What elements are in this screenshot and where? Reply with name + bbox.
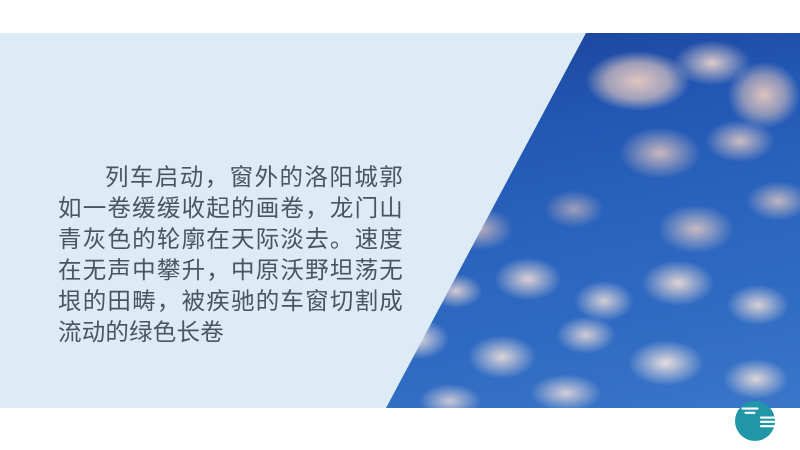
brand-logo xyxy=(734,400,776,442)
teal-circle-lines-icon xyxy=(735,401,775,441)
body-paragraph: 列车启动，窗外的洛阳城郭如一卷缓缓收起的画卷，龙门山青灰色的轮廓在天际淡去。速度… xyxy=(58,162,403,348)
slide-canvas: 列车启动，窗外的洛阳城郭如一卷缓缓收起的画卷，龙门山青灰色的轮廓在天际淡去。速度… xyxy=(0,0,800,450)
